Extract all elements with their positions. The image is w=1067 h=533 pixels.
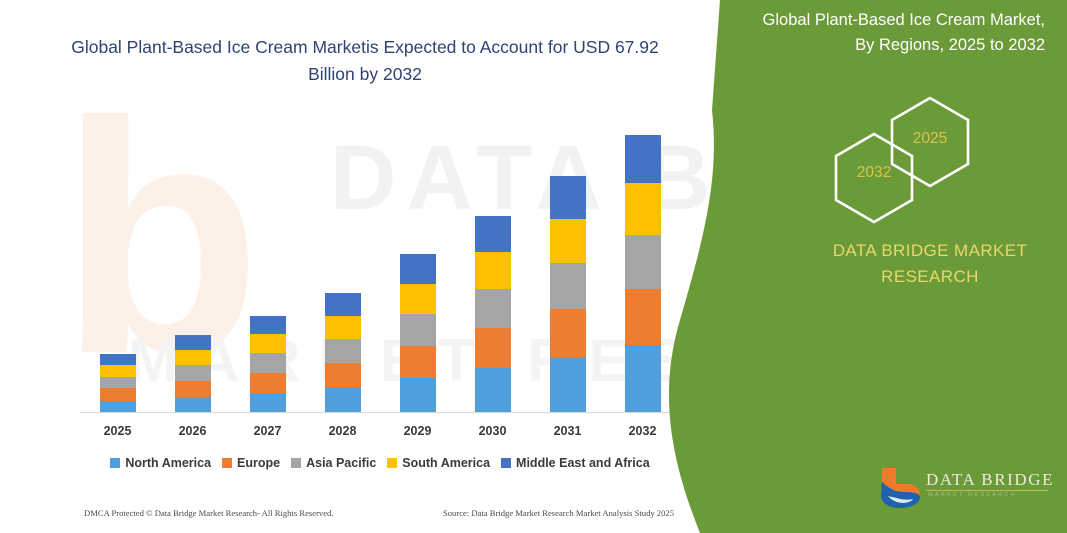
segment-2030-europe bbox=[475, 328, 511, 368]
bar-2031[interactable] bbox=[550, 176, 586, 413]
logo-name: DATA BRIDGE bbox=[926, 470, 1054, 490]
segment-2028-europe bbox=[325, 363, 361, 388]
segment-2027-europe bbox=[250, 373, 286, 393]
logo-divider bbox=[926, 490, 1048, 491]
legend-item-south-america[interactable]: South America bbox=[387, 456, 490, 470]
segment-2027-north-america bbox=[250, 393, 286, 413]
legend-item-north-america[interactable]: North America bbox=[110, 456, 211, 470]
segment-2031-asia-pacific bbox=[550, 263, 586, 310]
logo-b-mark-icon bbox=[878, 466, 924, 510]
segment-2031-middle-east-and-africa bbox=[550, 176, 586, 219]
legend-item-asia-pacific[interactable]: Asia Pacific bbox=[291, 456, 376, 470]
segment-2026-europe bbox=[175, 381, 211, 397]
segment-2027-asia-pacific bbox=[250, 353, 286, 372]
segment-2026-asia-pacific bbox=[175, 365, 211, 381]
logo-tagline: MARKET RESEARCH bbox=[928, 492, 1017, 498]
segment-2030-middle-east-and-africa bbox=[475, 216, 511, 252]
bar-2028[interactable] bbox=[325, 293, 361, 413]
segment-2028-middle-east-and-africa bbox=[325, 293, 361, 316]
bar-2026[interactable] bbox=[175, 335, 211, 413]
segment-2029-europe bbox=[400, 346, 436, 378]
legend-label: North America bbox=[125, 456, 211, 470]
stacked-bar-plot bbox=[80, 110, 680, 413]
segment-2026-south-america bbox=[175, 350, 211, 365]
segment-2031-south-america bbox=[550, 219, 586, 263]
segment-2029-middle-east-and-africa bbox=[400, 254, 436, 284]
segment-2030-north-america bbox=[475, 368, 511, 413]
x-axis-line bbox=[80, 412, 672, 413]
x-label-2031: 2031 bbox=[533, 424, 603, 438]
segment-2027-middle-east-and-africa bbox=[250, 316, 286, 334]
panel-title-line1: Global Plant-Based Ice Cream Market, bbox=[725, 8, 1045, 33]
segment-2025-asia-pacific bbox=[100, 377, 136, 389]
brand-name-line1: DATA BRIDGE MARKET bbox=[805, 238, 1055, 264]
legend-label: South America bbox=[402, 456, 490, 470]
segment-2025-middle-east-and-africa bbox=[100, 354, 136, 365]
legend-label: Asia Pacific bbox=[306, 456, 376, 470]
x-label-2029: 2029 bbox=[383, 424, 453, 438]
segment-2028-north-america bbox=[325, 387, 361, 413]
bar-2025[interactable] bbox=[100, 354, 136, 413]
legend-swatch-icon bbox=[387, 458, 397, 468]
bar-2030[interactable] bbox=[475, 216, 511, 413]
footer-source: Source: Data Bridge Market Research Mark… bbox=[443, 508, 674, 518]
hexagon-2032-label: 2032 bbox=[844, 164, 904, 182]
x-label-2030: 2030 bbox=[458, 424, 528, 438]
legend-swatch-icon bbox=[291, 458, 301, 468]
legend-label: Europe bbox=[237, 456, 280, 470]
segment-2029-north-america bbox=[400, 378, 436, 413]
segment-2028-south-america bbox=[325, 316, 361, 339]
brand-name: DATA BRIDGE MARKET RESEARCH bbox=[805, 238, 1055, 290]
legend-label: Middle East and Africa bbox=[516, 456, 650, 470]
legend-swatch-icon bbox=[501, 458, 511, 468]
segment-2028-asia-pacific bbox=[325, 339, 361, 363]
legend-swatch-icon bbox=[110, 458, 120, 468]
footer: DMCA Protected © Data Bridge Market Rese… bbox=[84, 508, 674, 518]
segment-2025-south-america bbox=[100, 365, 136, 376]
segment-2027-south-america bbox=[250, 334, 286, 353]
segment-2030-south-america bbox=[475, 252, 511, 289]
chart-legend: North AmericaEuropeAsia PacificSouth Ame… bbox=[80, 456, 680, 470]
x-label-2027: 2027 bbox=[233, 424, 303, 438]
data-bridge-logo: DATA BRIDGE MARKET RESEARCH bbox=[878, 466, 1050, 510]
segment-2030-asia-pacific bbox=[475, 289, 511, 328]
footer-copyright: DMCA Protected © Data Bridge Market Rese… bbox=[84, 508, 334, 518]
hexagon-2025-label: 2025 bbox=[900, 130, 960, 148]
x-label-2025: 2025 bbox=[83, 424, 153, 438]
legend-swatch-icon bbox=[222, 458, 232, 468]
brand-name-line2: RESEARCH bbox=[805, 264, 1055, 290]
bar-2027[interactable] bbox=[250, 316, 286, 413]
segment-2029-south-america bbox=[400, 284, 436, 314]
x-label-2026: 2026 bbox=[158, 424, 228, 438]
segment-2031-europe bbox=[550, 309, 586, 357]
panel-title-line2: By Regions, 2025 to 2032 bbox=[725, 33, 1045, 58]
x-axis-tick-labels: 20252026202720282029203020312032 bbox=[80, 424, 680, 444]
segment-2029-asia-pacific bbox=[400, 314, 436, 346]
x-label-2028: 2028 bbox=[308, 424, 378, 438]
segment-2026-middle-east-and-africa bbox=[175, 335, 211, 350]
chart-title: Global Plant-Based Ice Cream Marketis Ex… bbox=[60, 34, 670, 88]
legend-item-middle-east-and-africa[interactable]: Middle East and Africa bbox=[501, 456, 650, 470]
legend-item-europe[interactable]: Europe bbox=[222, 456, 280, 470]
panel-title: Global Plant-Based Ice Cream Market, By … bbox=[725, 8, 1045, 58]
segment-2025-europe bbox=[100, 388, 136, 400]
bar-2029[interactable] bbox=[400, 254, 436, 413]
segment-2026-north-america bbox=[175, 397, 211, 413]
segment-2031-north-america bbox=[550, 357, 586, 413]
infographic-root: b DATA BRIDGE MARKET RESEARCH Global Pla… bbox=[0, 0, 1067, 533]
